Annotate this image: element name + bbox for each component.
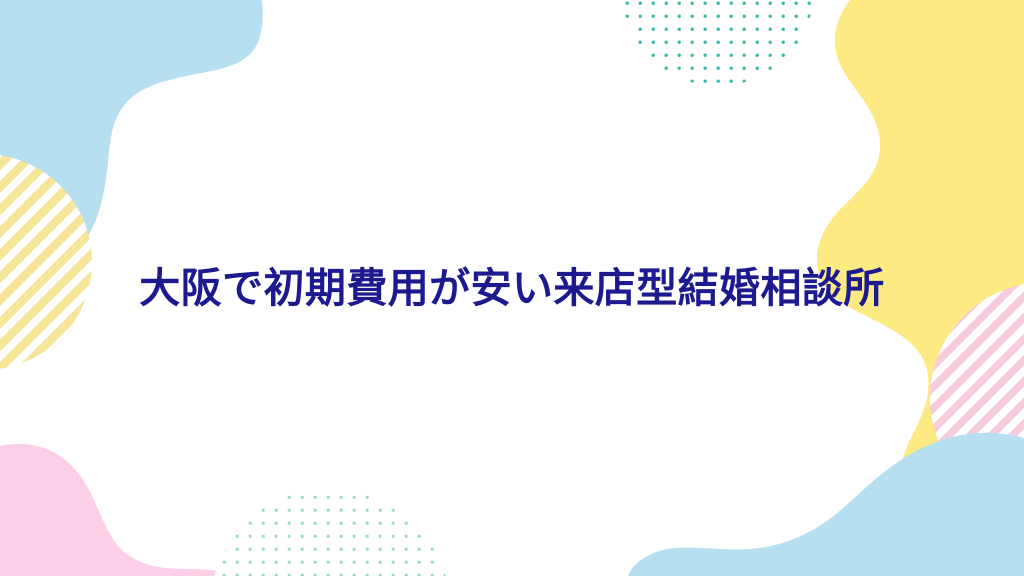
- decorative-background: [0, 0, 1024, 576]
- title-card: 大阪で初期費用が安い来店型結婚相談所: [0, 0, 1024, 576]
